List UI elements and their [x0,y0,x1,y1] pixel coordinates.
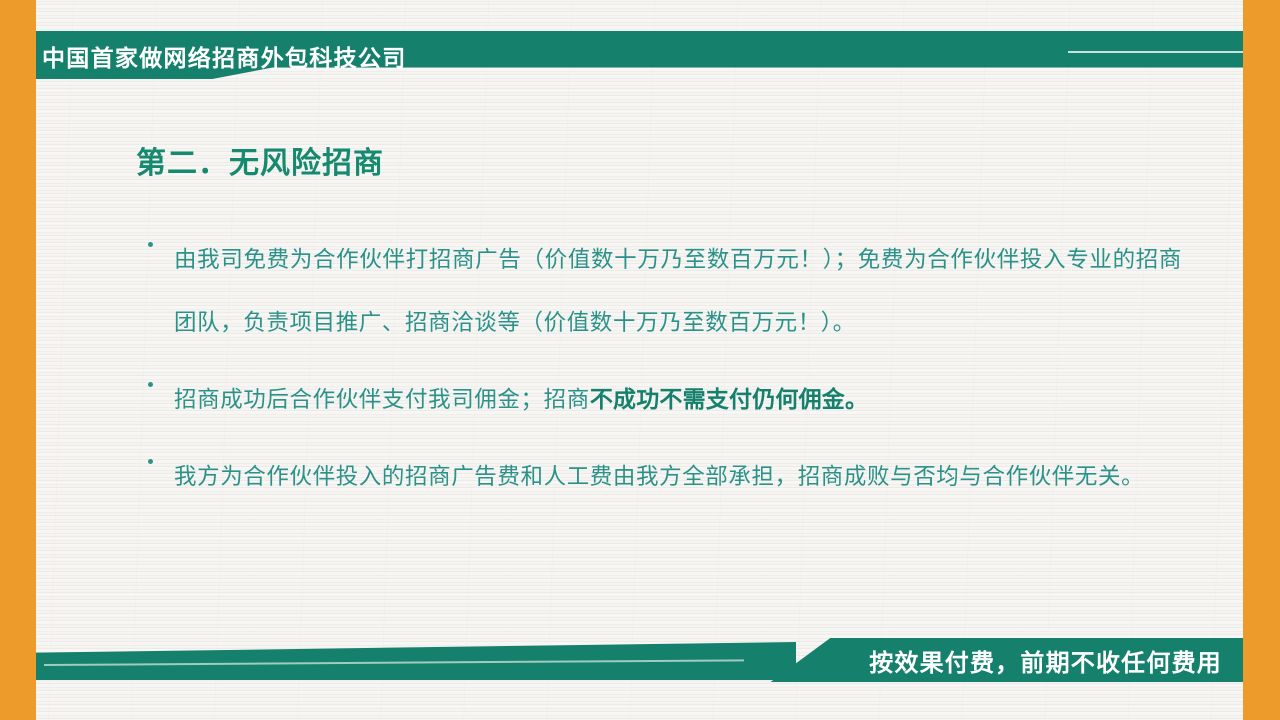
slide-canvas: 中国首家做网络招商外包科技公司 第二．无风险招商 由我司免费为合作伙伴打招商广告… [0,0,1280,720]
list-item: 招商成功后合作伙伴支付我司佣金；招商不成功不需支付仍何佣金。 [142,368,1182,431]
bullet-dot-icon [148,242,153,247]
text-segment: 由我司免费为合作伙伴打招商广告（价值数十万乃至数百万元！）；免费为合作伙伴投入专… [174,247,1182,335]
bullet-dot-icon [148,459,153,464]
list-item-text: 由我司免费为合作伙伴打招商广告（价值数十万乃至数百万元！）；免费为合作伙伴投入专… [174,228,1182,354]
bullet-list: 由我司免费为合作伙伴打招商广告（价值数十万乃至数百万元！）；免费为合作伙伴投入专… [142,228,1182,522]
text-segment: 我方为合作伙伴投入的招商广告费和人工费由我方全部承担，招商成败与否均与合作伙伴无… [174,464,1144,489]
list-item: 由我司免费为合作伙伴打招商广告（价值数十万乃至数百万元！）；免费为合作伙伴投入专… [142,228,1182,354]
list-item-text: 我方为合作伙伴投入的招商广告费和人工费由我方全部承担，招商成败与否均与合作伙伴无… [174,445,1182,508]
text-segment: 招商成功后合作伙伴支付我司佣金；招商 [174,387,590,412]
list-item: 我方为合作伙伴投入的招商广告费和人工费由我方全部承担，招商成败与否均与合作伙伴无… [142,445,1182,508]
bullet-dot-icon [148,382,153,387]
page-title: 第二．无风险招商 [136,138,384,182]
footer-tagline: 按效果付费，前期不收任何费用 [869,641,1222,679]
text-segment-emphasis: 不成功不需支付仍何佣金。 [590,386,868,412]
header-company-title: 中国首家做网络招商外包科技公司 [42,36,407,76]
header-hairline-divider [1068,51,1243,53]
list-item-text: 招商成功后合作伙伴支付我司佣金；招商不成功不需支付仍何佣金。 [174,368,1182,431]
